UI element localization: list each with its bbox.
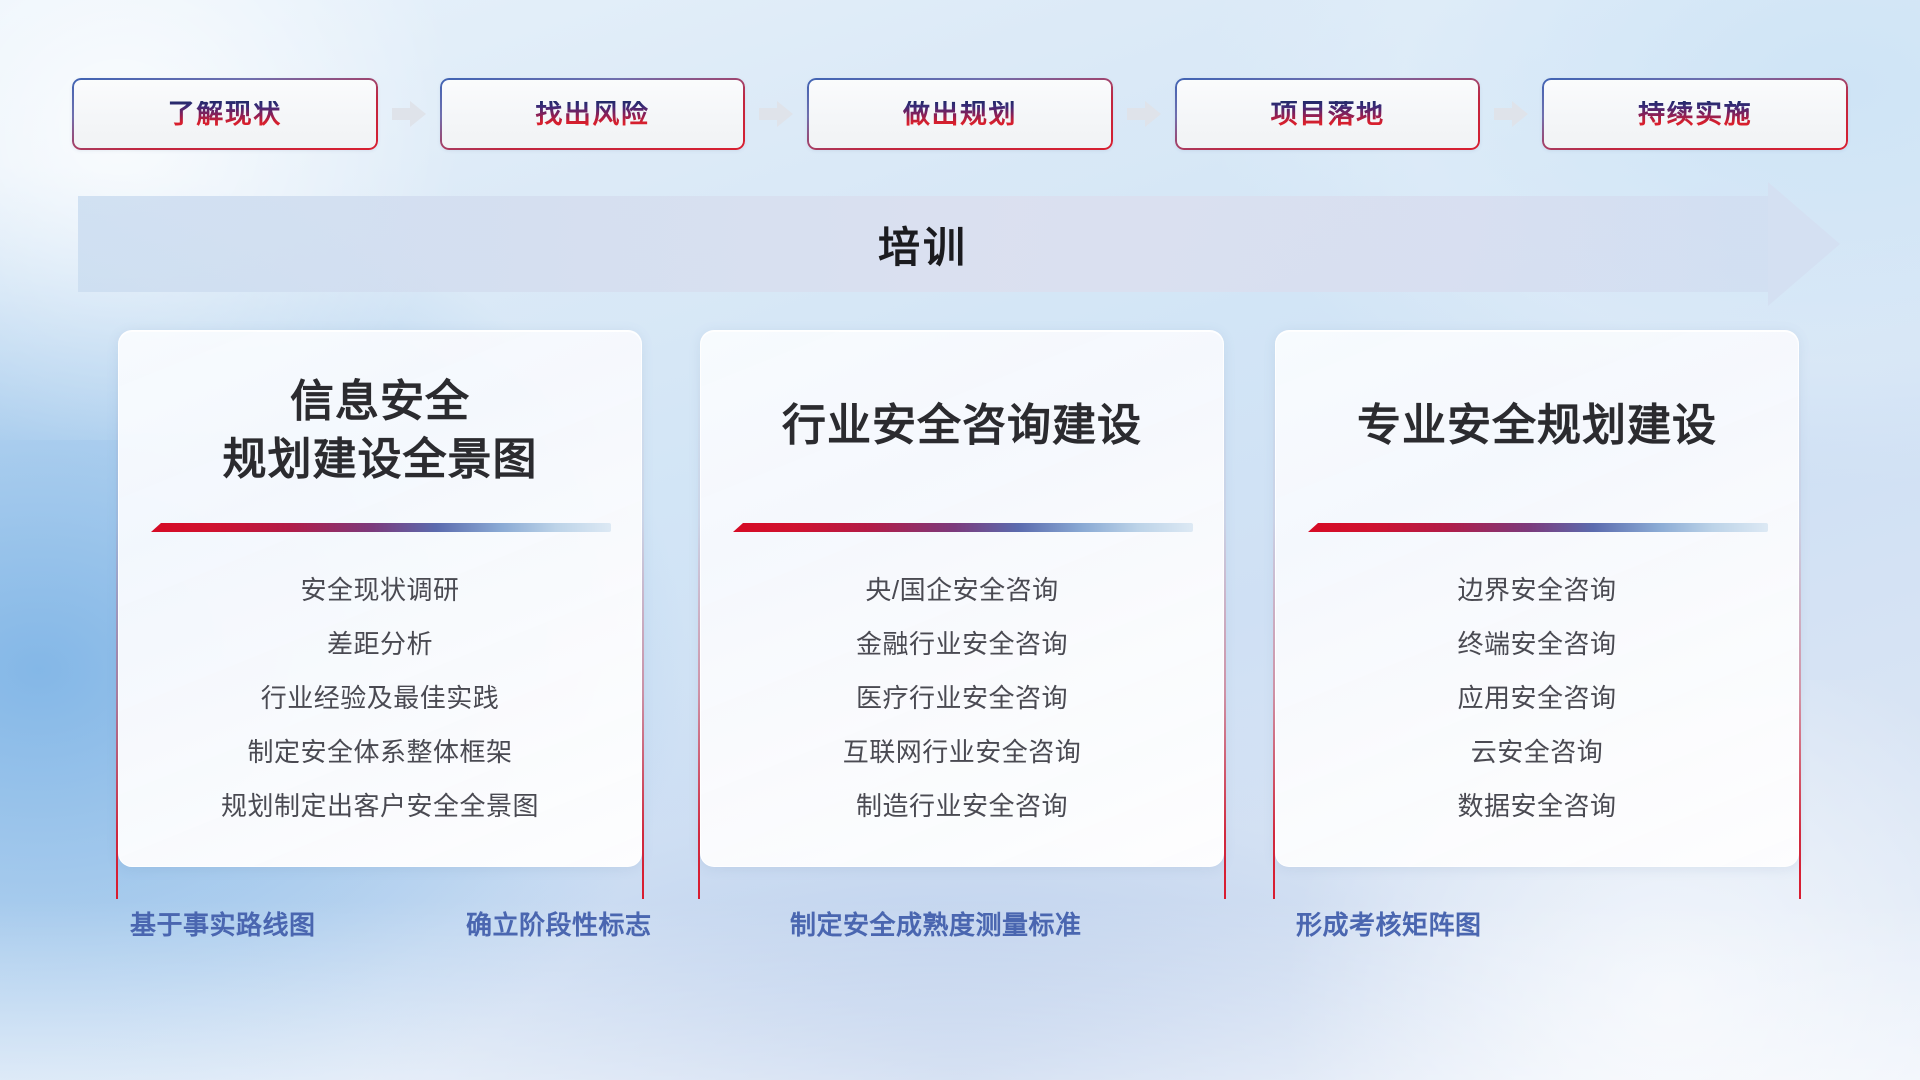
card-divider bbox=[733, 523, 1193, 532]
card-list: 安全现状调研 差距分析 行业经验及最佳实践 制定安全体系整体框架 规划制定出客户… bbox=[119, 563, 641, 833]
list-item: 差距分析 bbox=[143, 617, 617, 671]
step-label-4: 项目落地 bbox=[1271, 101, 1385, 128]
list-item: 医疗行业安全咨询 bbox=[725, 671, 1199, 725]
banner-title: 培训 bbox=[78, 196, 1768, 292]
list-item: 终端安全咨询 bbox=[1300, 617, 1774, 671]
list-item: 云安全咨询 bbox=[1300, 725, 1774, 779]
card-title-line: 行业安全咨询建设 bbox=[727, 397, 1197, 455]
card-title-line: 规划建设全景图 bbox=[145, 431, 615, 489]
card-row: 信息安全 规划建设全景图 安全现状调研 差距分析 行业经验及最佳实践 制定安全体… bbox=[0, 330, 1920, 875]
card-accent-rail-right bbox=[642, 360, 644, 899]
step-box-3[interactable]: 做出规划 bbox=[807, 78, 1113, 150]
step-box-5[interactable]: 持续实施 bbox=[1542, 78, 1848, 150]
step-separator-4 bbox=[1480, 78, 1542, 150]
footnote-row: 基于事实路线图 确立阶段性标志 制定安全成熟度测量标准 形成考核矩阵图 bbox=[0, 905, 1920, 953]
slide-canvas: 了解现状 找出风险 做出规划 项目落地 持续实施 培训 bbox=[0, 0, 1920, 1080]
step-box-1[interactable]: 了解现状 bbox=[72, 78, 378, 150]
list-item: 数据安全咨询 bbox=[1300, 779, 1774, 833]
footnote-2: 确立阶段性标志 bbox=[466, 905, 652, 942]
banner-arrow-right-icon bbox=[1768, 182, 1840, 306]
card-title: 信息安全 规划建设全景图 bbox=[119, 373, 641, 489]
arrow-right-icon bbox=[392, 101, 426, 127]
card-title: 行业安全咨询建设 bbox=[701, 397, 1223, 455]
list-item: 制定安全体系整体框架 bbox=[143, 725, 617, 779]
card-information-security[interactable]: 信息安全 规划建设全景图 安全现状调研 差距分析 行业经验及最佳实践 制定安全体… bbox=[118, 330, 642, 875]
card-panel: 信息安全 规划建设全景图 安全现状调研 差距分析 行业经验及最佳实践 制定安全体… bbox=[118, 330, 642, 867]
arrow-right-icon bbox=[1127, 101, 1161, 127]
step-label-1: 了解现状 bbox=[168, 101, 282, 128]
step-label-5: 持续实施 bbox=[1638, 101, 1752, 128]
list-item: 边界安全咨询 bbox=[1300, 563, 1774, 617]
card-divider-wrap bbox=[119, 523, 641, 532]
card-divider bbox=[1308, 523, 1768, 532]
footnote-1: 基于事实路线图 bbox=[130, 905, 316, 942]
step-box-2[interactable]: 找出风险 bbox=[440, 78, 746, 150]
card-panel: 专业安全规划建设 边界安全咨询 终端安全咨询 应用安全咨询 云安全咨询 数据安全… bbox=[1275, 330, 1799, 867]
card-list: 央/国企安全咨询 金融行业安全咨询 医疗行业安全咨询 互联网行业安全咨询 制造行… bbox=[701, 563, 1223, 833]
list-item: 央/国企安全咨询 bbox=[725, 563, 1199, 617]
list-item: 金融行业安全咨询 bbox=[725, 617, 1199, 671]
card-accent-rail-right bbox=[1799, 360, 1801, 899]
card-accent-rail-right bbox=[1224, 360, 1226, 899]
card-title: 专业安全规划建设 bbox=[1276, 397, 1798, 455]
list-item: 互联网行业安全咨询 bbox=[725, 725, 1199, 779]
list-item: 行业经验及最佳实践 bbox=[143, 671, 617, 725]
list-item: 规划制定出客户安全全景图 bbox=[143, 779, 617, 833]
card-professional-security-planning[interactable]: 专业安全规划建设 边界安全咨询 终端安全咨询 应用安全咨询 云安全咨询 数据安全… bbox=[1275, 330, 1799, 875]
step-box-4[interactable]: 项目落地 bbox=[1175, 78, 1481, 150]
arrow-right-icon bbox=[1494, 101, 1528, 127]
step-label-3: 做出规划 bbox=[903, 101, 1017, 128]
step-separator-3 bbox=[1113, 78, 1175, 150]
card-industry-security-consulting[interactable]: 行业安全咨询建设 央/国企安全咨询 金融行业安全咨询 医疗行业安全咨询 互联网行… bbox=[700, 330, 1224, 875]
list-item: 制造行业安全咨询 bbox=[725, 779, 1199, 833]
card-title-line: 专业安全规划建设 bbox=[1302, 397, 1772, 455]
list-item: 应用安全咨询 bbox=[1300, 671, 1774, 725]
training-banner: 培训 bbox=[78, 196, 1838, 292]
card-divider-wrap bbox=[701, 523, 1223, 532]
step-separator-2 bbox=[745, 78, 807, 150]
card-list: 边界安全咨询 终端安全咨询 应用安全咨询 云安全咨询 数据安全咨询 bbox=[1276, 563, 1798, 833]
card-panel: 行业安全咨询建设 央/国企安全咨询 金融行业安全咨询 医疗行业安全咨询 互联网行… bbox=[700, 330, 1224, 867]
list-item: 安全现状调研 bbox=[143, 563, 617, 617]
card-divider-wrap bbox=[1276, 523, 1798, 532]
card-title-line: 信息安全 bbox=[145, 373, 615, 431]
footnote-3: 制定安全成熟度测量标准 bbox=[790, 905, 1082, 942]
card-divider bbox=[151, 523, 611, 532]
step-separator-1 bbox=[378, 78, 440, 150]
footnote-4: 形成考核矩阵图 bbox=[1296, 905, 1482, 942]
step-label-2: 找出风险 bbox=[535, 101, 649, 128]
arrow-right-icon bbox=[759, 101, 793, 127]
process-step-row: 了解现状 找出风险 做出规划 项目落地 持续实施 bbox=[72, 78, 1848, 150]
